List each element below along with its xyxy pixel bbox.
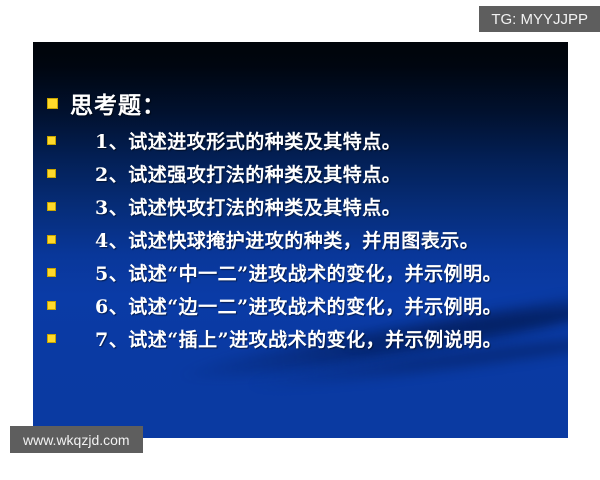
list-item-label: 7、试述“插上”进攻战术的变化，并示例说明。	[95, 325, 502, 352]
list-item: 6、试述“边一二”进攻战术的变化，并示例明。	[47, 292, 502, 319]
watermark-bottom-left: www.wkqzjd.com	[10, 426, 143, 453]
yellow-square-bullet-icon	[47, 301, 56, 310]
yellow-square-bullet-icon	[47, 235, 56, 244]
list-item: 2、试述强攻打法的种类及其特点。	[47, 160, 401, 187]
page-title: 思考题：	[70, 86, 166, 120]
yellow-square-bullet-icon	[47, 136, 56, 145]
slide-content: 思考题： 1、试述进攻形式的种类及其特点。 2、试述强攻打法的种类及其特点。 3…	[33, 42, 568, 438]
list-item: 5、试述“中一二”进攻战术的变化，并示例明。	[47, 259, 502, 286]
yellow-square-bullet-icon	[47, 202, 56, 211]
list-item-label: 5、试述“中一二”进攻战术的变化，并示例明。	[95, 259, 502, 286]
list-item: 3、试述快攻打法的种类及其特点。	[47, 193, 401, 220]
slide-title-row: 思考题：	[47, 86, 166, 120]
list-item-label: 3、试述快攻打法的种类及其特点。	[95, 193, 401, 220]
yellow-square-bullet-icon	[47, 98, 58, 109]
list-item: 1、试述进攻形式的种类及其特点。	[47, 127, 401, 154]
presentation-slide: 思考题： 1、试述进攻形式的种类及其特点。 2、试述强攻打法的种类及其特点。 3…	[33, 42, 568, 438]
list-item-label: 6、试述“边一二”进攻战术的变化，并示例明。	[95, 292, 502, 319]
list-item: 4、试述快球掩护进攻的种类，并用图表示。	[47, 226, 479, 253]
watermark-top-right: TG: MYYJJPP	[479, 6, 600, 32]
list-item-label: 2、试述强攻打法的种类及其特点。	[95, 160, 401, 187]
list-item-label: 4、试述快球掩护进攻的种类，并用图表示。	[95, 226, 479, 253]
yellow-square-bullet-icon	[47, 169, 56, 178]
yellow-square-bullet-icon	[47, 334, 56, 343]
list-item-label: 1、试述进攻形式的种类及其特点。	[95, 127, 401, 154]
yellow-square-bullet-icon	[47, 268, 56, 277]
list-item: 7、试述“插上”进攻战术的变化，并示例说明。	[47, 325, 502, 352]
